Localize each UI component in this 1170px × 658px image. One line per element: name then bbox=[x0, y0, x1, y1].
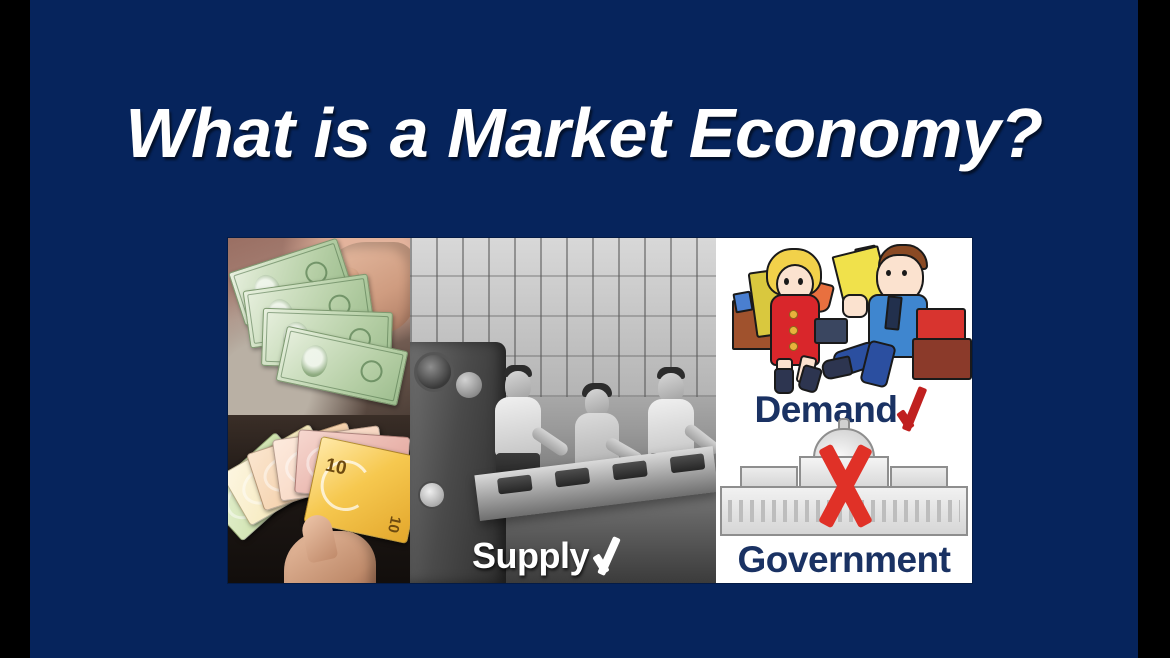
machine-dial bbox=[418, 481, 446, 509]
man-eye bbox=[886, 270, 891, 276]
photo-euro-notes: 10 10 bbox=[228, 415, 410, 583]
banknote-seal bbox=[359, 358, 385, 384]
clipart-capitol-building bbox=[716, 434, 972, 536]
worker-shirt bbox=[495, 397, 541, 457]
belt-part bbox=[670, 453, 706, 473]
supply-caption: Supply bbox=[472, 535, 625, 577]
photo-factory-line bbox=[410, 238, 716, 583]
slide-stage: What is a Market Economy? bbox=[30, 0, 1138, 658]
government-label-text: Government bbox=[716, 539, 972, 581]
man-shoe bbox=[820, 355, 854, 381]
cross-icon bbox=[798, 442, 890, 530]
check-icon bbox=[899, 388, 933, 432]
belt-part bbox=[497, 474, 533, 494]
letterbox-bar-right bbox=[1138, 0, 1170, 658]
belt-part bbox=[612, 460, 648, 480]
page-title: What is a Market Economy? bbox=[30, 92, 1138, 174]
machine-knob bbox=[456, 372, 482, 398]
man-hand bbox=[842, 294, 868, 318]
panel-demand-government: Demand Government bbox=[716, 238, 972, 583]
panel-money: 10 10 bbox=[228, 238, 410, 583]
check-icon bbox=[595, 536, 625, 576]
image-collage: 10 10 bbox=[228, 238, 972, 583]
slide: What is a Market Economy? bbox=[0, 0, 1170, 658]
man-eye bbox=[902, 270, 907, 276]
girl-eye bbox=[798, 278, 803, 285]
letterbox-bar-left bbox=[0, 0, 30, 658]
banknote-portrait bbox=[298, 343, 330, 380]
euro-denomination-label: 10 bbox=[323, 455, 348, 481]
clipart-shoppers bbox=[716, 242, 972, 392]
supply-label-text: Supply bbox=[472, 535, 589, 577]
machine-wheel bbox=[414, 352, 454, 392]
briefcase-shape bbox=[912, 338, 972, 380]
euro-denomination-label-secondary: 10 bbox=[384, 515, 404, 535]
shopper-man-figure bbox=[820, 242, 970, 394]
panel-supply: Supply bbox=[410, 238, 716, 583]
demand-label-text: Demand bbox=[755, 389, 898, 431]
belt-part bbox=[555, 467, 591, 487]
photo-us-dollars bbox=[228, 238, 410, 415]
girl-eye bbox=[784, 278, 789, 285]
